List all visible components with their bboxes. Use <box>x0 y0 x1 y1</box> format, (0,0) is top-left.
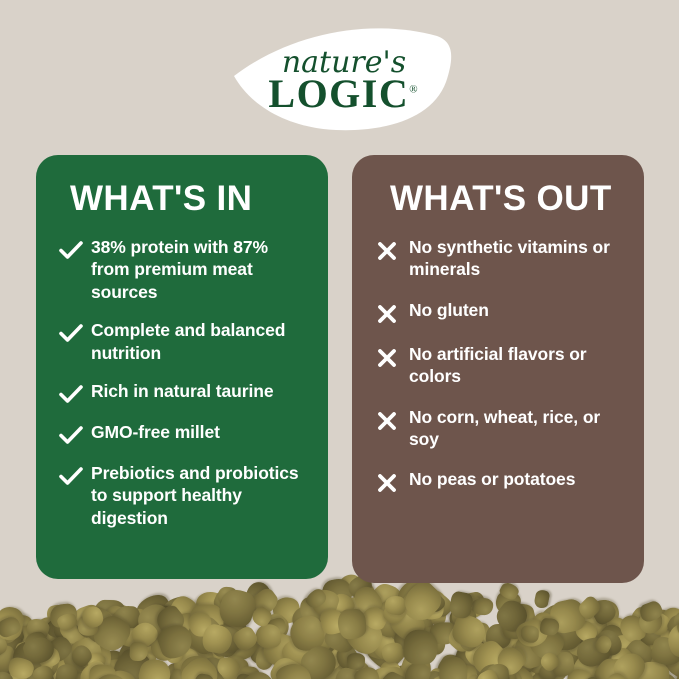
list-item: Prebiotics and probiotics to support hea… <box>58 462 306 529</box>
list-item: No gluten <box>376 299 624 325</box>
kibble-piece <box>471 598 492 615</box>
list-item: No synthetic vitamins or minerals <box>376 236 624 281</box>
kibble-piece <box>540 618 560 636</box>
list-item-label: Rich in natural taurine <box>91 380 273 402</box>
kibble-piece <box>438 657 467 679</box>
list-item-label: Complete and balanced nutrition <box>91 319 306 364</box>
whats-out-card: WHAT'S OUT No synthetic vitamins or mine… <box>352 155 644 583</box>
kibble-piece <box>337 608 367 640</box>
kibble-piece <box>520 625 539 643</box>
list-item: Rich in natural taurine <box>58 380 306 405</box>
logo-wordmark-text: LOGIC <box>268 71 409 116</box>
list-item: No corn, wheat, rice, or soy <box>376 406 624 451</box>
list-item-label: 38% protein with 87% from premium meat s… <box>91 236 306 303</box>
check-icon <box>58 424 84 446</box>
kibble-piece <box>403 630 437 666</box>
check-icon <box>58 383 84 405</box>
x-icon <box>376 410 398 432</box>
whats-out-title: WHAT'S OUT <box>376 181 624 216</box>
x-icon <box>376 472 398 494</box>
list-item-label: No peas or potatoes <box>409 468 575 490</box>
list-item: 38% protein with 87% from premium meat s… <box>58 236 306 303</box>
whats-out-list: No synthetic vitamins or minerals No glu… <box>376 236 624 494</box>
check-icon <box>58 465 84 487</box>
list-item-label: No gluten <box>409 299 489 321</box>
logo-text-block: nature's LOGIC® <box>232 24 454 132</box>
list-item-label: GMO-free millet <box>91 421 220 443</box>
list-item-label: No corn, wheat, rice, or soy <box>409 406 624 451</box>
list-item-label: No synthetic vitamins or minerals <box>409 236 624 281</box>
list-item: GMO-free millet <box>58 421 306 446</box>
x-icon <box>376 347 398 369</box>
list-item-label: No artificial flavors or colors <box>409 343 624 388</box>
logo-wordmark: LOGIC® <box>268 75 417 113</box>
list-item: No peas or potatoes <box>376 468 624 494</box>
check-icon <box>58 239 84 261</box>
kibble-piece <box>384 595 407 616</box>
registered-trademark-icon: ® <box>409 83 417 95</box>
brand-logo: nature's LOGIC® <box>232 24 454 132</box>
whats-in-card: WHAT'S IN 38% protein with 87% from prem… <box>36 155 328 579</box>
whats-in-list: 38% protein with 87% from premium meat s… <box>58 236 306 529</box>
x-icon <box>376 303 398 325</box>
whats-in-title: WHAT'S IN <box>58 181 306 216</box>
check-icon <box>58 322 84 344</box>
list-item: Complete and balanced nutrition <box>58 319 306 364</box>
list-item: No artificial flavors or colors <box>376 343 624 388</box>
x-icon <box>376 240 398 262</box>
list-item-label: Prebiotics and probiotics to support hea… <box>91 462 306 529</box>
